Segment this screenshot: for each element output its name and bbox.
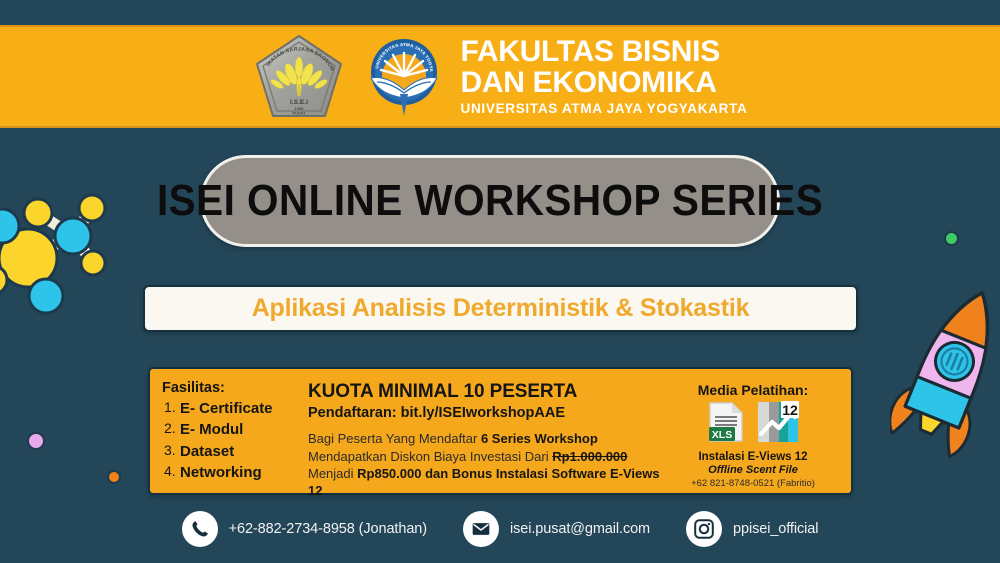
- media-title: Media Pelatihan:: [669, 382, 837, 398]
- poster-canvas: IKATAN SARJANA EKONOMI INDONESIA I.S.E.I…: [0, 0, 1000, 563]
- uajy-logo: UNIVERSITAS ATMA JAYA YOGYAKARTA: [367, 36, 441, 118]
- promo-part-3: Menjadi: [308, 466, 357, 481]
- contact-phone-label: +62-882-2734-8958 (Jonathan): [229, 521, 427, 537]
- contact-bar: +62-882-2734-8958 (Jonathan) isei.pusat@…: [0, 505, 1000, 553]
- svg-text:I.S.E.I: I.S.E.I: [290, 99, 308, 106]
- promo-old-price: Rp1.000.000: [552, 449, 627, 464]
- promo-part-2: Mendapatkan Diskon Biaya Investasi Dari: [308, 449, 552, 464]
- media-line-2: Offline Scent File: [669, 464, 837, 476]
- facilities-title: Fasilitas:: [162, 380, 302, 396]
- contact-email-label: isei.pusat@gmail.com: [510, 521, 650, 537]
- registration-link[interactable]: Pendaftaran: bit.ly/ISEIworkshopAAE: [308, 405, 669, 421]
- email-icon: [463, 511, 499, 547]
- faculty-line-2: DAN EKONOMIKA: [461, 68, 748, 98]
- contact-instagram-label: ppisei_official: [733, 521, 818, 537]
- list-item: Dataset: [162, 441, 302, 462]
- green-dot: [944, 231, 959, 246]
- molecule-illustration: [0, 168, 138, 343]
- phone-icon: [182, 511, 218, 547]
- isei-logo: IKATAN SARJANA EKONOMI INDONESIA I.S.E.I…: [253, 34, 345, 120]
- contact-email[interactable]: isei.pusat@gmail.com: [463, 511, 650, 547]
- registration-block: KUOTA MINIMAL 10 PESERTA Pendaftaran: bi…: [302, 380, 669, 485]
- workshop-title-pill: ISEI ONLINE WORKSHOP SERIES: [200, 155, 780, 247]
- eviews-12-icon: 12: [757, 401, 799, 448]
- svg-text:PUSAT: PUSAT: [292, 110, 306, 115]
- orange-dot: [107, 470, 121, 484]
- quota-headline: KUOTA MINIMAL 10 PESERTA: [308, 381, 669, 402]
- workshop-subtitle-bar: Aplikasi Analisis Deterministik & Stokas…: [143, 285, 858, 332]
- media-line-1: Instalasi E-Views 12: [669, 451, 837, 463]
- media-icons: XLS 12: [669, 403, 837, 445]
- xls-file-icon: XLS: [708, 401, 744, 448]
- faculty-text-block: FAKULTAS BISNIS DAN EKONOMIKA UNIVERSITA…: [461, 37, 748, 116]
- header-band: IKATAN SARJANA EKONOMI INDONESIA I.S.E.I…: [0, 25, 1000, 128]
- svg-text:XLS: XLS: [711, 429, 731, 441]
- instagram-icon: [686, 511, 722, 547]
- pink-dot: [27, 432, 45, 450]
- promo-bold-1: 6 Series Workshop: [481, 431, 598, 446]
- contact-phone[interactable]: +62-882-2734-8958 (Jonathan): [182, 511, 427, 547]
- promo-text: Bagi Peserta Yang Mendaftar 6 Series Wor…: [308, 430, 669, 499]
- rocket-illustration: [890, 280, 1000, 485]
- list-item: E- Certificate: [162, 398, 302, 419]
- facilities-list: E- Certificate E- Modul Dataset Networki…: [162, 398, 302, 483]
- svg-text:12: 12: [782, 402, 798, 418]
- university-name: UNIVERSITAS ATMA JAYA YOGYAKARTA: [461, 102, 748, 116]
- list-item: E- Modul: [162, 419, 302, 440]
- top-strip: [0, 0, 1000, 25]
- promo-part-1: Bagi Peserta Yang Mendaftar: [308, 431, 481, 446]
- faculty-line-1: FAKULTAS BISNIS: [461, 37, 748, 67]
- list-item: Networking: [162, 462, 302, 483]
- info-panel: Fasilitas: E- Certificate E- Modul Datas…: [148, 367, 853, 495]
- contact-instagram[interactable]: ppisei_official: [686, 511, 818, 547]
- media-line-3: +62 821-8748-0521 (Fabritio): [669, 478, 837, 489]
- page-title: ISEI ONLINE WORKSHOP SERIES: [157, 176, 823, 226]
- facilities-block: Fasilitas: E- Certificate E- Modul Datas…: [162, 380, 302, 485]
- media-block: Media Pelatihan: XLS: [669, 380, 837, 485]
- promo-new-price: Rp850.000 dan Bonus Instalasi Software E…: [308, 466, 660, 498]
- workshop-subtitle: Aplikasi Analisis Deterministik & Stokas…: [252, 294, 750, 323]
